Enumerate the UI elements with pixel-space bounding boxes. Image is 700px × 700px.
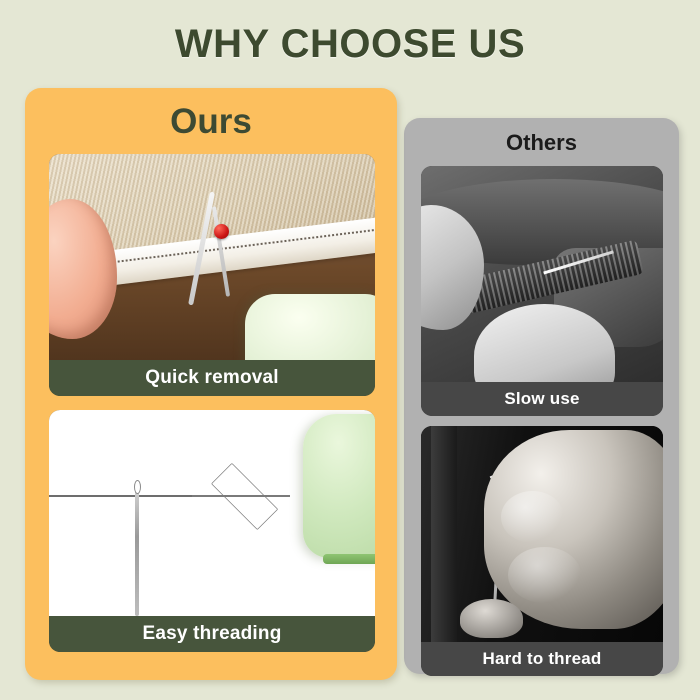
panel-others-heading: Others xyxy=(404,130,679,156)
card-others-hard-to-thread[interactable]: Hard to thread xyxy=(421,426,663,676)
knuckle-highlight-lower xyxy=(508,547,581,603)
infographic-canvas: WHY CHOOSE US Ours Quick removal xyxy=(0,0,700,700)
card-caption-slow-use: Slow use xyxy=(421,382,663,416)
background-stripe xyxy=(431,426,458,642)
card-caption-hard-to-thread: Hard to thread xyxy=(421,642,663,676)
manual-stitch-picking-grayscale-photo xyxy=(421,166,663,382)
green-tool-body xyxy=(245,294,375,360)
needle-threader-tool-photo xyxy=(49,410,375,616)
panel-ours: Ours Quick removal xyxy=(25,88,397,680)
green-tool-foot xyxy=(323,554,375,564)
red-ball-tip xyxy=(214,224,229,239)
page-title: WHY CHOOSE US xyxy=(0,22,700,67)
thread-left xyxy=(49,495,205,497)
panel-others: Others Slow use xyxy=(404,118,679,674)
thumb-tip xyxy=(460,599,523,638)
card-others-slow-use[interactable]: Slow use xyxy=(421,166,663,416)
hands-threading-needle-grayscale-photo xyxy=(421,426,663,642)
needle-eye xyxy=(134,480,141,494)
card-caption-easy-threading: Easy threading xyxy=(49,616,375,652)
card-caption-quick-removal: Quick removal xyxy=(49,360,375,396)
sewing-needle xyxy=(135,484,139,616)
knuckle-highlight-upper xyxy=(501,491,564,543)
green-tool-body xyxy=(303,414,375,558)
seam-ripper-removing-stitches-photo xyxy=(49,154,375,360)
card-ours-quick-removal[interactable]: Quick removal xyxy=(49,154,375,396)
panel-ours-heading: Ours xyxy=(25,102,397,142)
card-ours-easy-threading[interactable]: Easy threading xyxy=(49,410,375,652)
